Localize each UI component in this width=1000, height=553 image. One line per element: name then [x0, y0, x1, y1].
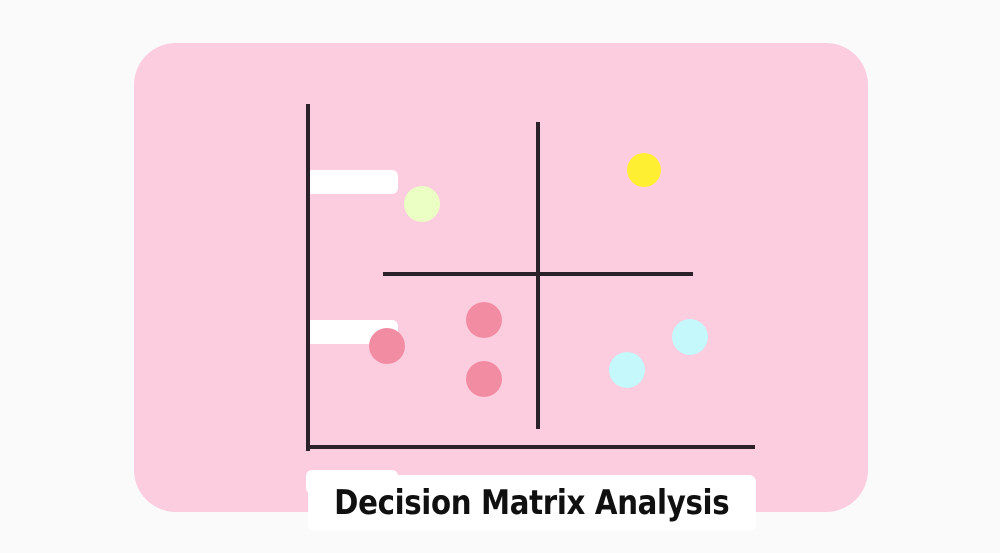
data-point-aqua-2[interactable]: [672, 319, 708, 355]
data-point-green-1[interactable]: [404, 186, 440, 222]
y-axis-line: [306, 104, 310, 451]
page-title: Decision Matrix Analysis: [334, 483, 729, 523]
chart-card: [134, 43, 868, 512]
data-point-yellow-1[interactable]: [627, 153, 661, 187]
title-banner: Decision Matrix Analysis: [308, 475, 756, 531]
data-point-salmon-3[interactable]: [466, 361, 502, 397]
data-point-aqua-1[interactable]: [609, 352, 645, 388]
quadrant-divider-horizontal: [383, 272, 693, 276]
data-point-salmon-2[interactable]: [466, 302, 502, 338]
legend-placeholder-1: [306, 170, 398, 194]
data-point-salmon-1[interactable]: [369, 328, 405, 364]
x-axis-line: [306, 445, 755, 449]
screenshot-root: Decision Matrix Analysis: [0, 0, 1000, 553]
